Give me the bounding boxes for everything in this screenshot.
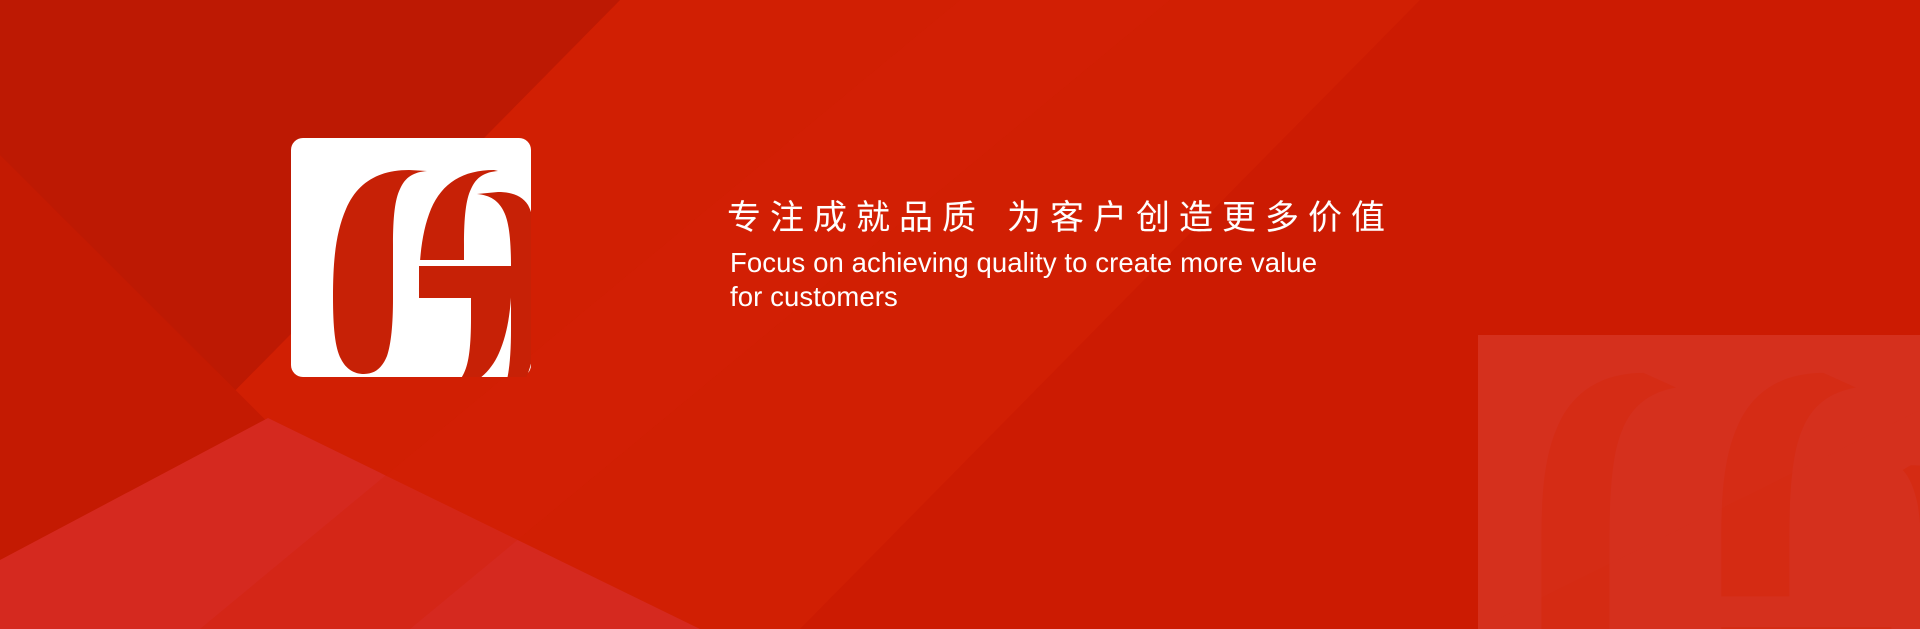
subline-english: Focus on achieving quality to create mor… — [730, 246, 1355, 314]
headline-chinese-part2: 为客户创造更多价值 — [1007, 199, 1394, 237]
company-logo[interactable] — [291, 138, 531, 377]
background-pattern — [0, 0, 1920, 629]
headline-chinese-part1: 专注成就品质 — [727, 199, 985, 237]
headline-chinese: 专注成就品质为客户创造更多价值 — [727, 196, 1427, 240]
slogan-block: 专注成就品质为客户创造更多价值 Focus on achieving quali… — [727, 196, 1427, 314]
brand-banner: 专注成就品质为客户创造更多价值 Focus on achieving quali… — [0, 0, 1920, 629]
